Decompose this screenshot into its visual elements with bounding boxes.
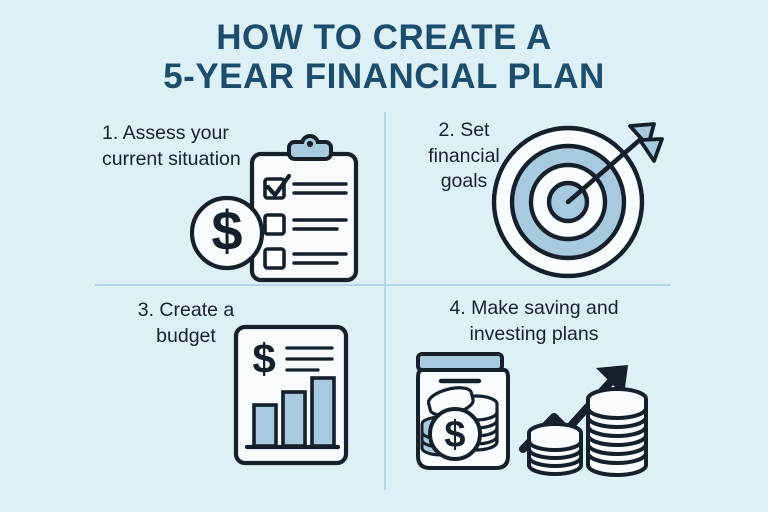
savings-jar-growth-arrow-coin-stacks-icon: $ xyxy=(408,348,660,483)
title-line-1: How to create a xyxy=(216,18,551,57)
step-card-3: 3. Create a budget $ xyxy=(90,288,384,490)
step-card-4: 4. Make saving and investing plans xyxy=(386,288,682,490)
target-with-arrow-icon xyxy=(490,118,666,289)
step-card-2: 2. Set financial goals xyxy=(386,112,682,284)
step-4-label: 4. Make saving and investing plans xyxy=(414,296,654,347)
svg-text:$: $ xyxy=(252,335,275,382)
title-line-2: 5-Year Financial Plan xyxy=(0,57,768,96)
infographic-canvas: How to create a 5-Year Financial Plan 1.… xyxy=(0,0,768,512)
page-title: How to create a 5-Year Financial Plan xyxy=(0,18,768,96)
clipboard-checklist-with-dollar-coin-icon: $ xyxy=(190,132,370,289)
step-card-1: 1. Assess your current situation xyxy=(90,112,384,284)
svg-text:$: $ xyxy=(444,414,465,456)
svg-text:$: $ xyxy=(211,199,242,262)
budget-document-bar-chart-icon: $ xyxy=(232,324,352,471)
